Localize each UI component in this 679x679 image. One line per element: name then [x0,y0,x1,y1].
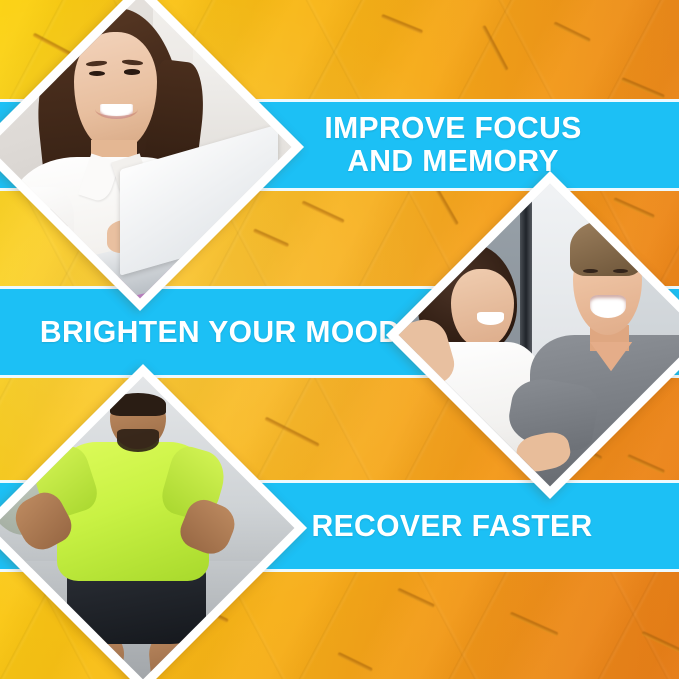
photo-frame [399,184,679,487]
crease-mark [301,200,344,223]
crease-mark [264,417,319,448]
photo-frame [0,0,291,298]
photo-arm-left [1,187,74,286]
crease-mark [509,612,558,637]
photo-hair [110,393,166,416]
benefit-photo-diamond-recover-faster [0,364,307,679]
photo-couple-laughing [399,184,679,487]
headline-line-1: RECOVER FASTER [259,510,646,543]
headline-line-2: AND MEMORY [259,145,648,178]
photo-man-running [0,377,294,679]
photo-face [74,32,157,151]
crease-mark [621,77,665,99]
headline-line-1: IMPROVE FOCUS [259,112,648,145]
photo-eye-right [124,69,141,74]
poster-canvas: IMPROVE FOCUS AND MEMORY BRIGHTEN YOUR M… [0,0,679,679]
crease-mark [397,588,435,609]
crease-mark [627,454,665,474]
crease-mark [381,14,423,34]
benefit-photo-diamond-brighten-mood [386,171,679,499]
crease-mark [481,25,508,71]
photo-woman-laptop [0,0,291,298]
crease-mark [553,21,591,42]
headline-line-1: BRIGHTEN YOUR MOOD [26,316,415,349]
photo-woman-smile [477,312,503,325]
crease-mark [641,631,679,653]
crease-mark [253,228,289,247]
photo-man-hair [570,220,643,276]
crease-mark [613,197,655,219]
crease-mark [337,652,373,672]
photo-frame [0,377,294,679]
benefit-photo-diamond-focus-memory [0,0,304,311]
